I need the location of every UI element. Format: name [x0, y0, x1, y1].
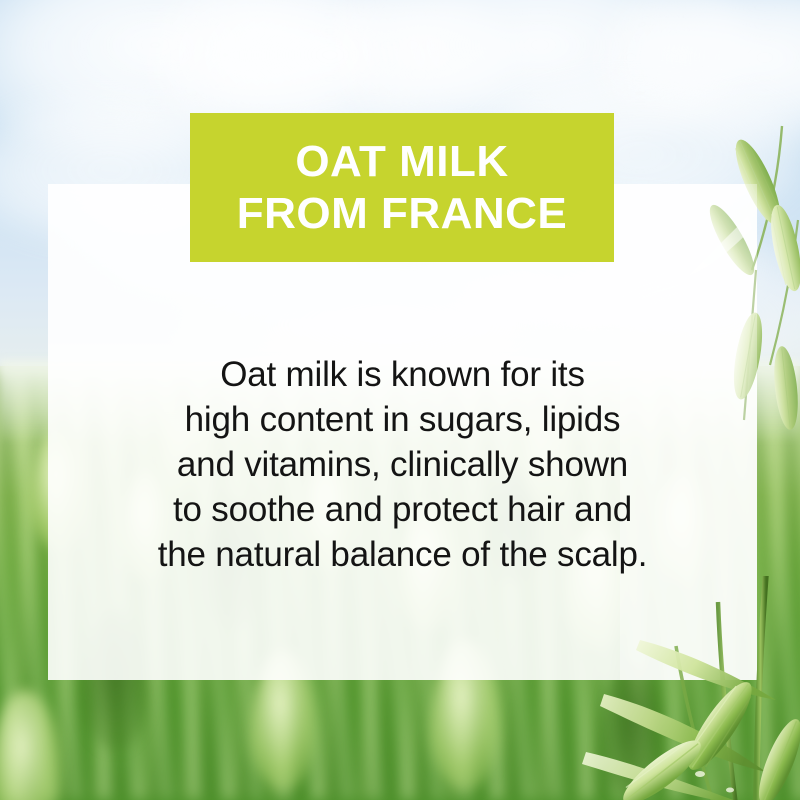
body-copy-line: the natural balance of the scalp. [48, 532, 757, 577]
promo-image-canvas: OAT MILK FROM FRANCE Oat milk is known f… [0, 0, 800, 800]
banner-title-line-2: FROM FRANCE [237, 188, 568, 240]
body-copy-line: high content in sugars, lipids [48, 397, 757, 442]
body-copy-line: and vitamins, clinically shown [48, 442, 757, 487]
headline-banner: OAT MILK FROM FRANCE [190, 113, 614, 262]
body-copy-line: Oat milk is known for its [48, 352, 757, 397]
banner-title-line-1: OAT MILK [295, 136, 508, 188]
body-copy: Oat milk is known for its high content i… [48, 352, 757, 577]
body-copy-line: to soothe and protect hair and [48, 487, 757, 532]
